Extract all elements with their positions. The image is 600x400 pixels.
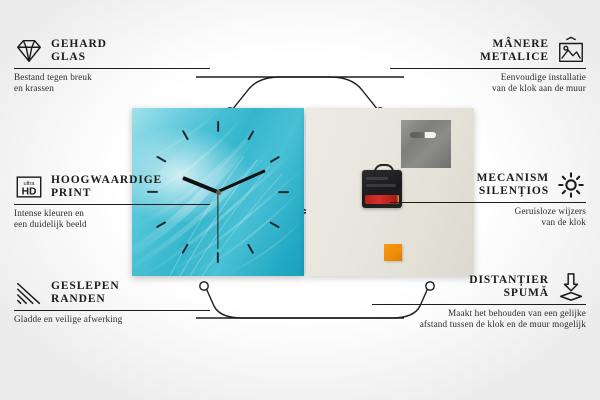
down-arrow-layers-icon (556, 272, 586, 302)
feature-desc: Eenvoudige installatie (390, 72, 586, 83)
svg-text:HD: HD (22, 187, 37, 198)
ultra-hd-icon: ultra HD (14, 172, 44, 202)
feature-metal-hangers: MÂNERE METALICE Eenvoudige installatie v… (390, 36, 586, 95)
feature-desc: Bestand tegen breuk (14, 72, 210, 83)
divider (14, 68, 210, 69)
feature-title: HOOGWAARDIGE (51, 174, 162, 187)
divider (372, 304, 586, 305)
picture-hanger-icon (556, 36, 586, 66)
minute-hand (217, 169, 266, 193)
feature-title-2: SPUMĂ (469, 287, 549, 300)
feature-desc-2: van de klok aan de muur (390, 83, 586, 94)
feature-desc: Maakt het behouden van een gelijke (372, 308, 586, 319)
feature-title-2: PRINT (51, 187, 162, 200)
feature-desc: Geruisloze wijzers (390, 206, 586, 217)
feature-desc: Intense kleuren en (14, 208, 210, 219)
feature-hd-print: ultra HD HOOGWAARDIGE PRINT Intense kleu… (14, 172, 210, 231)
feature-desc-2: een duidelijk beeld (14, 219, 210, 230)
feature-desc-2: en krassen (14, 83, 210, 94)
feature-title: DISTANȚIER (469, 274, 549, 287)
gear-icon (556, 170, 586, 200)
divider (390, 202, 586, 203)
feature-desc-2: afstand tussen de klok en de muur mogeli… (372, 319, 586, 330)
feature-title-2: METALICE (480, 51, 549, 64)
hand-cap (216, 190, 221, 195)
feature-tempered-glass: GEHARD GLAS Bestand tegen breuk en krass… (14, 36, 210, 95)
infographic-canvas: GEHARD GLAS Bestand tegen breuk en krass… (0, 0, 600, 400)
metal-hanger-plate (401, 120, 451, 168)
feature-title-2: SILENȚIOS (477, 185, 549, 198)
feature-title: GEHARD (51, 38, 107, 51)
feature-desc: Gladde en veilige afwerking (14, 314, 210, 325)
divider (14, 310, 210, 311)
feature-title-2: GLAS (51, 51, 107, 64)
divider (390, 68, 586, 69)
diamond-icon (14, 36, 44, 66)
second-hand (217, 192, 218, 249)
feature-title: MECANISM (477, 172, 549, 185)
feature-title-2: RANDEN (51, 293, 120, 306)
feature-silent-mechanism: MECANISM SILENȚIOS Geruisloze wijzers va… (390, 170, 586, 229)
feature-title: GESLEPEN (51, 280, 120, 293)
feature-desc-2: van de klok (390, 217, 586, 228)
bevel-edges-icon (14, 278, 44, 308)
foam-spacer-pad (384, 244, 402, 261)
mechanism-detail (366, 177, 388, 180)
feature-foam-spacer: DISTANȚIER SPUMĂ Maakt het behouden van … (372, 272, 586, 331)
divider (14, 204, 210, 205)
feature-polished-edges: GESLEPEN RANDEN Gladde en veilige afwerk… (14, 278, 210, 325)
feature-title: MÂNERE (480, 38, 549, 51)
